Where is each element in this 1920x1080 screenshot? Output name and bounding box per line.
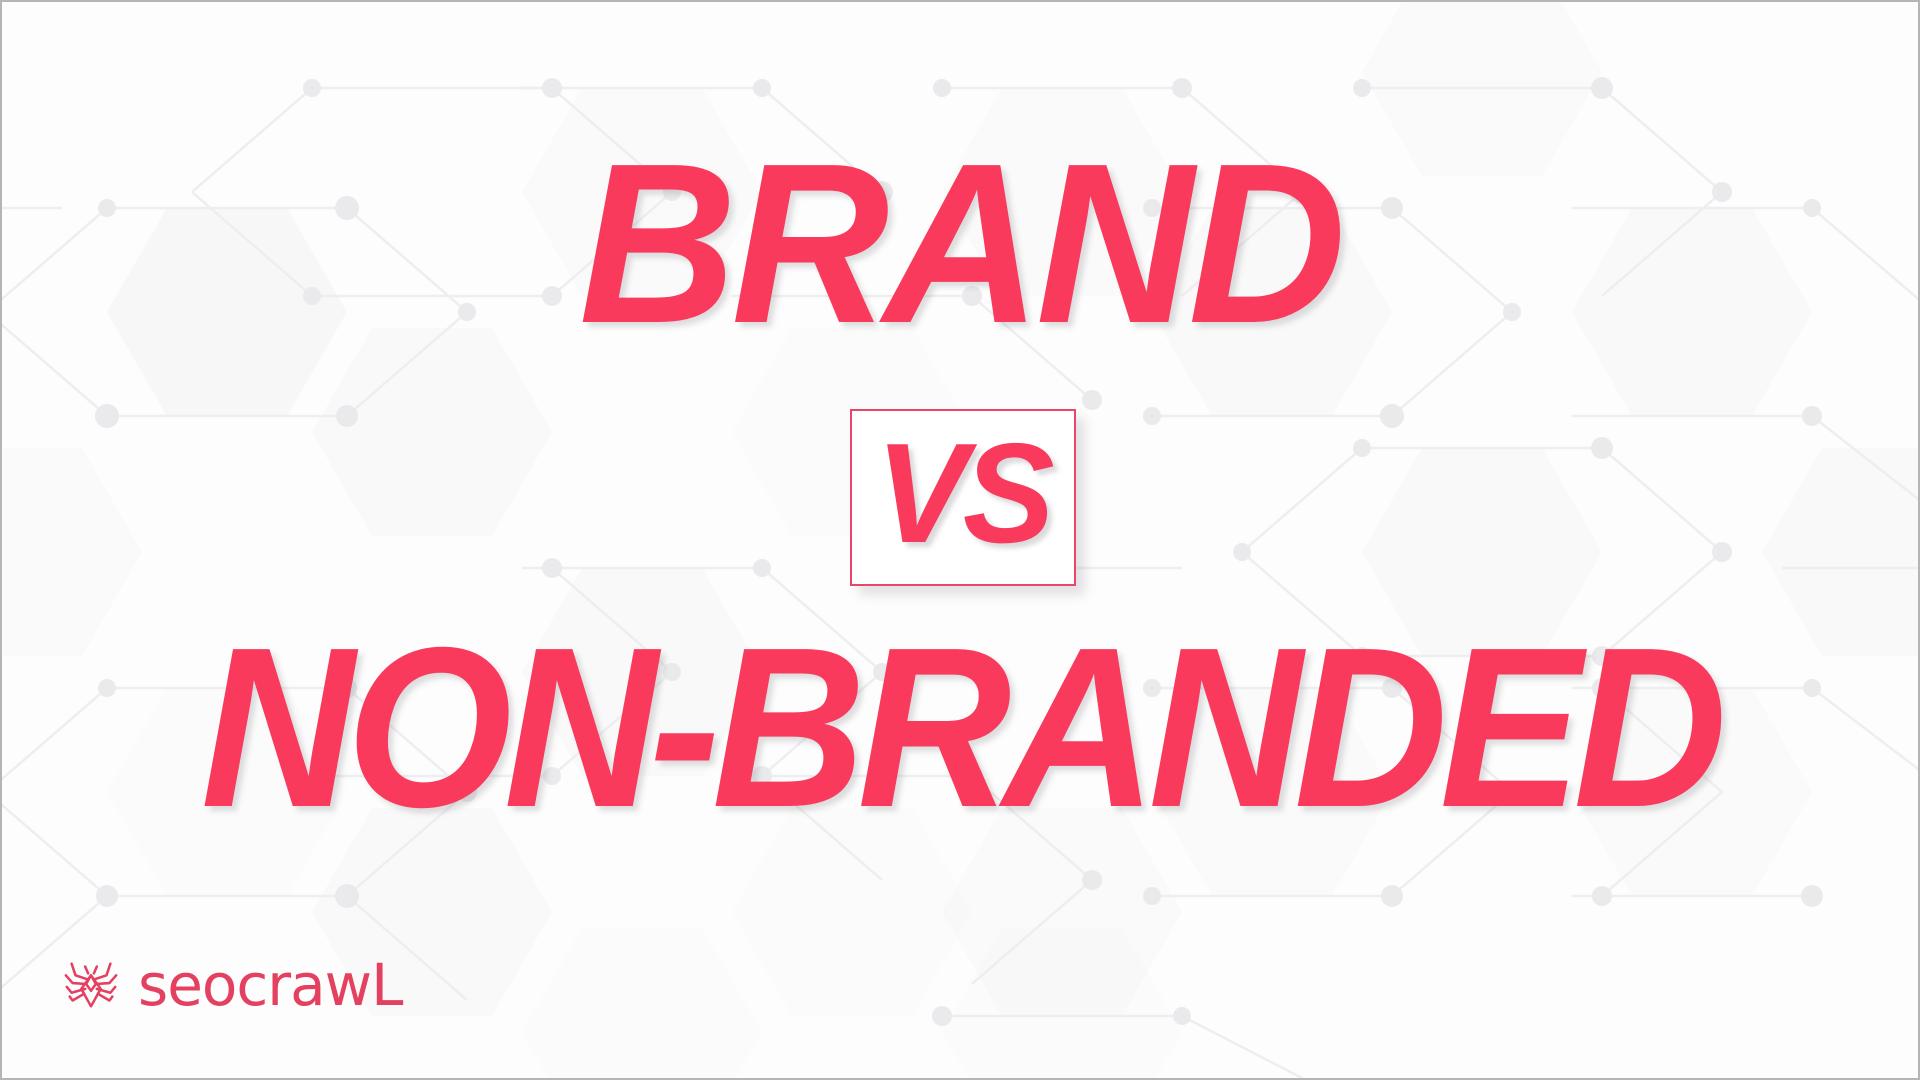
logo-wordmark: seocrawL <box>138 956 402 1014</box>
vs-label: VS <box>876 423 1050 565</box>
headline-line-2: NON-BRANDED <box>2 614 1918 842</box>
brand-title: BRAND <box>579 130 1341 358</box>
headline-line-1: BRAND <box>2 130 1918 358</box>
non-branded-title: NON-BRANDED <box>201 614 1719 842</box>
brand-logo[interactable]: seocrawL <box>60 954 402 1016</box>
spider-icon <box>60 954 122 1016</box>
vs-badge: VS <box>850 409 1076 586</box>
poster-canvas: BRAND VS NON-BRANDED <box>0 0 1920 1080</box>
